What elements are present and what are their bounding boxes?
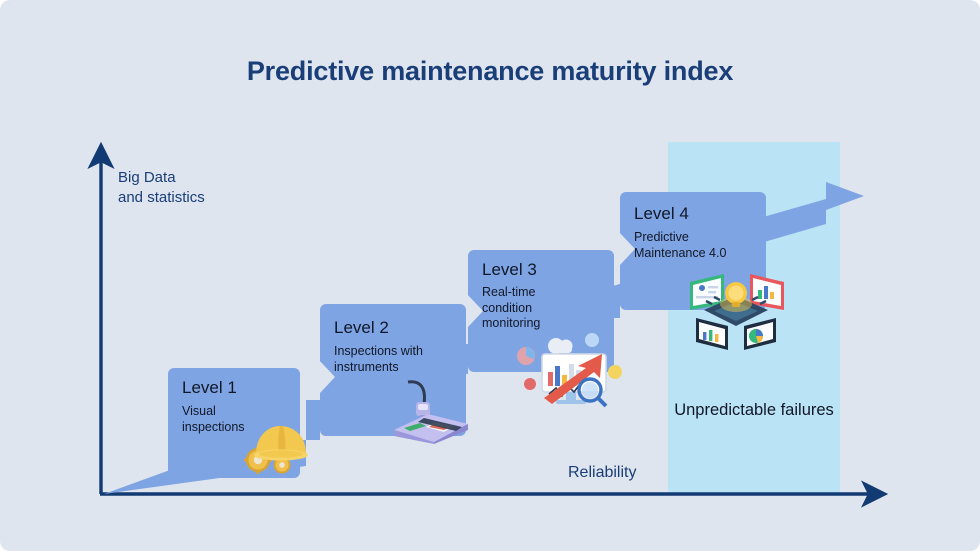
handheld-measuring-instrument-icon — [382, 378, 472, 444]
ai-chip-multi-screen-analytics-icon — [684, 260, 788, 352]
level-2-description: Inspections with instruments — [334, 344, 423, 375]
dashboard-monitor-growth-arrow-icon — [516, 326, 624, 408]
level-2-title: Level 2 — [334, 318, 389, 338]
level-3-description: Real-time condition monitoring — [482, 285, 540, 332]
level-4-description: Predictive Maintenance 4.0 — [634, 230, 726, 261]
hard-hat-gears-icon — [238, 414, 312, 476]
level-1-description: Visual inspections — [182, 404, 245, 435]
level-2-arrow-notch — [320, 360, 335, 394]
level-3-title: Level 3 — [482, 260, 537, 280]
level-4-arrow-notch — [620, 232, 635, 266]
level-1-title: Level 1 — [182, 378, 237, 398]
level-3-arrow-notch — [468, 294, 483, 328]
level-4-title: Level 4 — [634, 204, 689, 224]
infographic-canvas: Predictive maintenance maturity index Un… — [0, 0, 980, 551]
